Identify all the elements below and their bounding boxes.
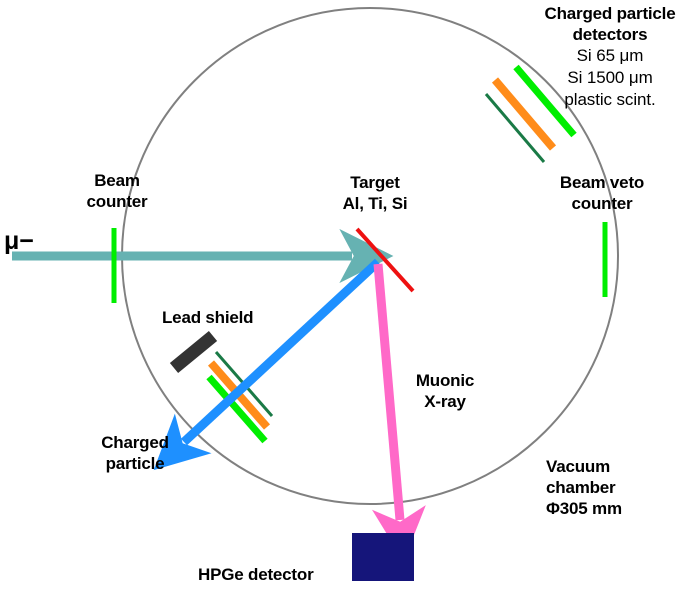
charged-particle-arrow xyxy=(184,262,378,442)
muonic-xray-label-line-2: X-ray xyxy=(390,391,500,412)
muonic-xray-experiment-diagram: μ− Beam counter Target Al, Ti, Si Charge… xyxy=(0,0,696,589)
charged-particle-detectors-label: Charged particle detectors Si 65 μm Si 1… xyxy=(524,3,696,111)
target-foil xyxy=(357,229,413,291)
lead-shield-label-text: Lead shield xyxy=(162,307,302,328)
vacuum-chamber-label: Vacuum chamber Φ305 mm xyxy=(546,456,686,519)
beam-veto-counter-label: Beam veto counter xyxy=(514,172,690,214)
target-label: Target Al, Ti, Si xyxy=(310,172,440,214)
charged-particle-label-line-2: particle xyxy=(74,453,196,474)
hpge-detector-label-text: HPGe detector xyxy=(198,564,344,585)
beam-veto-counter-label-line-1: Beam veto xyxy=(514,172,690,193)
muonic-xray-label: Muonic X-ray xyxy=(390,370,500,412)
muonic-xray-label-line-1: Muonic xyxy=(390,370,500,391)
hpge-detector-label: HPGe detector xyxy=(198,564,344,585)
muon-beam-label: μ− xyxy=(4,228,60,254)
lead-shield-bar xyxy=(174,336,213,368)
cpd-item-si-1500um: Si 1500 μm xyxy=(524,67,696,89)
beam-veto-counter-label-line-2: counter xyxy=(514,193,690,214)
target-label-line-1: Target xyxy=(310,172,440,193)
charged-particle-label-line-1: Charged xyxy=(74,432,196,453)
cpd-item-si-65um: Si 65 μm xyxy=(524,45,696,67)
beam-counter-label-line-1: Beam xyxy=(62,170,172,191)
target-label-line-2: Al, Ti, Si xyxy=(310,193,440,214)
beam-counter-label-line-2: counter xyxy=(62,191,172,212)
vacuum-chamber-label-line-3: Φ305 mm xyxy=(546,498,686,519)
beam-counter-label: Beam counter xyxy=(62,170,172,212)
cpd-item-plastic-scint: plastic scint. xyxy=(524,89,696,111)
hpge-detector-block xyxy=(352,533,414,581)
cpd-heading-line-1: Charged particle xyxy=(524,3,696,24)
vacuum-chamber-label-line-1: Vacuum xyxy=(546,456,686,477)
vacuum-chamber-label-line-2: chamber xyxy=(546,477,686,498)
muon-beam-label-text: μ− xyxy=(4,228,60,254)
lead-shield-label: Lead shield xyxy=(162,307,302,328)
cpd-heading-line-2: detectors xyxy=(524,24,696,45)
charged-particle-label: Charged particle xyxy=(74,432,196,474)
